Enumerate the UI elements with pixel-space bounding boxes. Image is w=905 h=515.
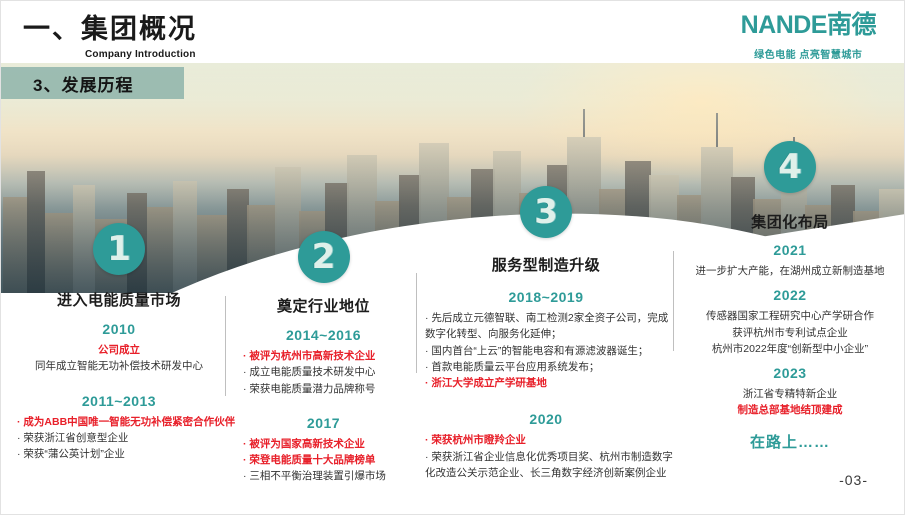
- timeline-badge-3-number: 3: [534, 195, 558, 229]
- timeline-line: 荣获杭州市瞪羚企业: [425, 432, 671, 448]
- timeline-lines-2-1: 被评为国家高新技术企业 荣登电能质量十大品牌榜单 三相不平衡治理装置引爆市场: [231, 436, 416, 485]
- timeline-line: 被评为国家高新技术企业: [243, 436, 416, 452]
- timeline-line: 公司成立: [15, 342, 223, 358]
- timeline-line: 首款电能质量云平台应用系统发布；: [425, 359, 671, 375]
- timeline-line: 国内首台“上云”的智能电容和有源滤波器诞生；: [425, 343, 671, 359]
- timeline-line: 荣获浙江省企业信息化优秀项目奖、杭州市制造数字: [425, 449, 671, 465]
- timeline-line: 成为ABB中国唯一智能无功补偿紧密合作伙伴: [17, 414, 223, 430]
- timeline-footer-slogan: 在路上……: [681, 431, 899, 452]
- logo-tagline: 绿色电能 点亮智慧城市: [741, 46, 876, 61]
- timeline-line: 先后成立元德智联、南工检测2家全资子公司，完成: [425, 310, 671, 326]
- logo-wordmark: NANDE南德: [741, 13, 876, 38]
- page-title: 一、集团概况: [23, 15, 197, 45]
- page-subtitle: Company Introduction: [85, 49, 197, 60]
- timeline-line: 荣获浙江省创意型企业: [17, 430, 223, 446]
- timeline-lines-4-2: 浙江省专精特新企业 制造总部基地结顶建成: [681, 386, 899, 419]
- timeline-title-1: 进入电能质量市场: [15, 289, 223, 310]
- timeline-year-2-1: 2017: [231, 415, 416, 431]
- timeline-year-1-1: 2011~2013: [15, 393, 223, 409]
- timeline-line: 荣获电能质量潜力品牌称号: [243, 381, 416, 397]
- timeline-lines-4-0: 进一步扩大产能，在湖州成立新制造基地: [681, 263, 899, 279]
- section-banner: 3、发展历程: [1, 67, 184, 99]
- slide-canvas: 一、集团概况 Company Introduction 3、发展历程 NANDE…: [0, 0, 905, 515]
- timeline-line: 浙江省专精特新企业: [681, 386, 899, 402]
- timeline-column-1: 1 进入电能质量市场 2010 公司成立 同年成立智能无功补偿技术研发中心 20…: [15, 223, 223, 462]
- timeline-line: 传感器国家工程研究中心产学研合作: [681, 308, 899, 324]
- timeline-badge-1-number: 1: [107, 232, 131, 266]
- timeline-line: 同年成立智能无功补偿技术研发中心: [15, 358, 223, 374]
- timeline-title-4: 集团化布局: [681, 211, 899, 232]
- timeline-line: 化改造公关示范企业、长三角数字经济创新案例企业: [425, 465, 671, 481]
- timeline-year-3-0: 2018~2019: [421, 289, 671, 305]
- timeline-badge-4: 4: [764, 141, 816, 193]
- timeline-line: 荣获“蒲公英计划”企业: [17, 446, 223, 462]
- timeline-column-4: 4 集团化布局 2021 进一步扩大产能，在湖州成立新制造基地 2022 传感器…: [681, 141, 899, 452]
- company-logo: NANDE南德 绿色电能 点亮智慧城市: [741, 13, 876, 61]
- section-banner-label: 3、发展历程: [33, 71, 133, 96]
- timeline-line: 获评杭州市专利试点企业: [681, 325, 899, 341]
- timeline-year-1-0: 2010: [15, 321, 223, 337]
- column-divider-3: [673, 251, 674, 351]
- timeline-year-4-0: 2021: [681, 242, 899, 258]
- timeline-year-2-0: 2014~2016: [231, 327, 416, 343]
- timeline-line: 浙江大学成立产学研基地: [425, 375, 671, 391]
- timeline-badge-2: 2: [298, 231, 350, 283]
- timeline-line: 三相不平衡治理装置引爆市场: [243, 468, 416, 484]
- timeline-lines-2-0: 被评为杭州市高新技术企业 成立电能质量技术研发中心 荣获电能质量潜力品牌称号: [231, 348, 416, 397]
- timeline-year-3-1: 2020: [421, 411, 671, 427]
- timeline-badge-1: 1: [93, 223, 145, 275]
- timeline-column-3: 3 服务型制造升级 2018~2019 先后成立元德智联、南工检测2家全资子公司…: [421, 186, 671, 481]
- timeline-badge-3: 3: [520, 186, 572, 238]
- timeline-line: 杭州市2022年度“创新型中小企业”: [681, 341, 899, 357]
- timeline-line: 数字化转型、向服务化延伸；: [425, 326, 671, 342]
- timeline-year-4-1: 2022: [681, 287, 899, 303]
- page-title-block: 一、集团概况 Company Introduction: [23, 15, 197, 60]
- timeline-line: 制造总部基地结顶建成: [681, 402, 899, 418]
- timeline-lines-1-1: 成为ABB中国唯一智能无功补偿紧密合作伙伴 荣获浙江省创意型企业 荣获“蒲公英计…: [15, 414, 223, 463]
- timeline-lines-4-1: 传感器国家工程研究中心产学研合作 获评杭州市专利试点企业 杭州市2022年度“创…: [681, 308, 899, 357]
- timeline-lines-3-1: 荣获杭州市瞪羚企业 荣获浙江省企业信息化优秀项目奖、杭州市制造数字 化改造公关示…: [421, 432, 671, 481]
- timeline-lines-1-0: 公司成立 同年成立智能无功补偿技术研发中心: [15, 342, 223, 375]
- page-number: -03-: [839, 472, 868, 488]
- timeline-line: 进一步扩大产能，在湖州成立新制造基地: [681, 263, 899, 279]
- timeline-title-2: 奠定行业地位: [231, 295, 416, 316]
- timeline-title-3: 服务型制造升级: [421, 254, 671, 275]
- timeline-column-2: 2 奠定行业地位 2014~2016 被评为杭州市高新技术企业 成立电能质量技术…: [231, 231, 416, 485]
- timeline-year-4-2: 2023: [681, 365, 899, 381]
- timeline-line: 成立电能质量技术研发中心: [243, 364, 416, 380]
- timeline-badge-2-number: 2: [312, 240, 336, 274]
- column-divider-2: [416, 273, 417, 373]
- column-divider-1: [225, 296, 226, 396]
- timeline-badge-4-number: 4: [778, 150, 802, 184]
- timeline-line: 荣登电能质量十大品牌榜单: [243, 452, 416, 468]
- timeline-line: 被评为杭州市高新技术企业: [243, 348, 416, 364]
- timeline-lines-3-0: 先后成立元德智联、南工检测2家全资子公司，完成 数字化转型、向服务化延伸； 国内…: [421, 310, 671, 391]
